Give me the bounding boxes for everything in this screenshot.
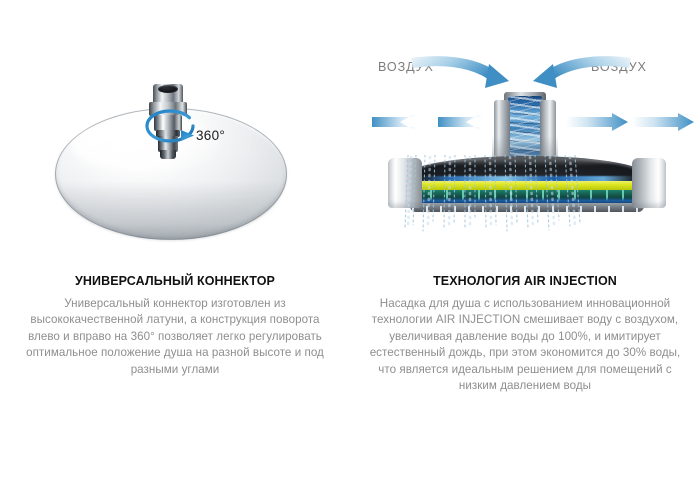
curved-arrow-inward-left [411,56,509,88]
connector-foot [160,150,176,159]
connector-bore-opening [158,85,178,93]
rotation-degrees-label: 360° [196,128,225,143]
panel-air-injection: ВОЗДУХ ВОЗДУХ [350,0,700,493]
body-universal-connector: Универсальный коннектор изготовлен из вы… [25,296,325,378]
curved-arrow-inward-right [533,56,631,88]
feature-page: 360° УНИВЕРСАЛЬНЫЙ КОННЕКТОР Универсальн… [0,0,700,493]
figure-air-injection-cutaway: ВОЗДУХ ВОЗДУХ [350,0,700,268]
body-air-injection: Насадка для душа с использованием иннова… [367,296,683,394]
caption-universal-connector: УНИВЕРСАЛЬНЫЙ КОННЕКТОР Универсальный ко… [0,274,350,378]
caption-air-injection: ТЕХНОЛОГИЯ AIR INJECTION Насадка для душ… [350,274,700,394]
panel-universal-connector: 360° УНИВЕРСАЛЬНЫЙ КОННЕКТОР Универсальн… [0,0,350,493]
water-spray [402,155,588,233]
shell-right-wall [632,158,666,208]
figure-shower-head-disc: 360° [0,0,350,268]
heading-air-injection: ТЕХНОЛОГИЯ AIR INJECTION [350,274,700,289]
heading-universal-connector: УНИВЕРСАЛЬНЫЙ КОННЕКТОР [0,274,350,289]
